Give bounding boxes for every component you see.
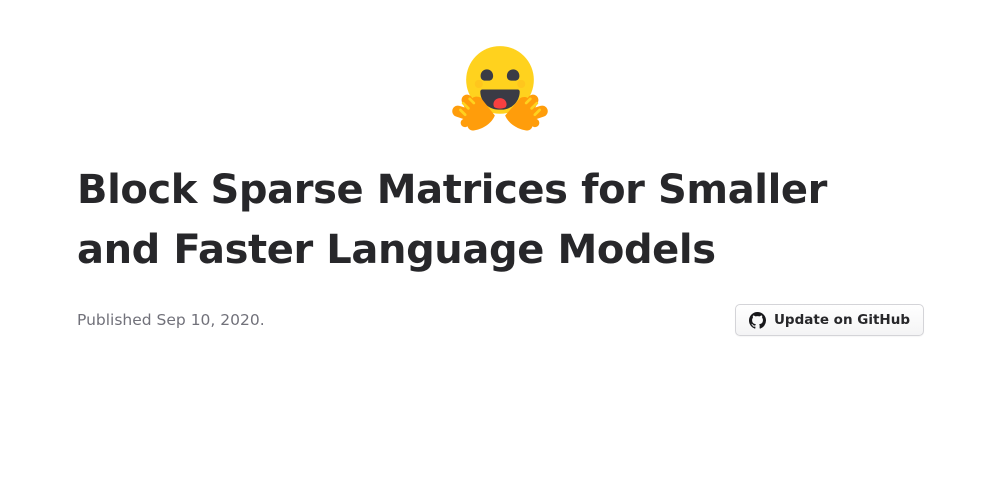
logo-container [0,40,1000,132]
update-on-github-button[interactable]: Update on GitHub [735,304,924,336]
article-meta-row: Published Sep 10, 2020. Update on GitHub [77,304,924,336]
update-on-github-label: Update on GitHub [774,314,910,328]
published-date: Published Sep 10, 2020. [77,310,265,330]
article-header: Block Sparse Matrices for Smaller and Fa… [77,160,924,336]
article-body [77,360,924,480]
blog-post-page: Block Sparse Matrices for Smaller and Fa… [0,0,1000,499]
hugging-face-emoji-icon [452,40,548,132]
github-icon [749,312,766,329]
page-title: Block Sparse Matrices for Smaller and Fa… [77,160,907,280]
